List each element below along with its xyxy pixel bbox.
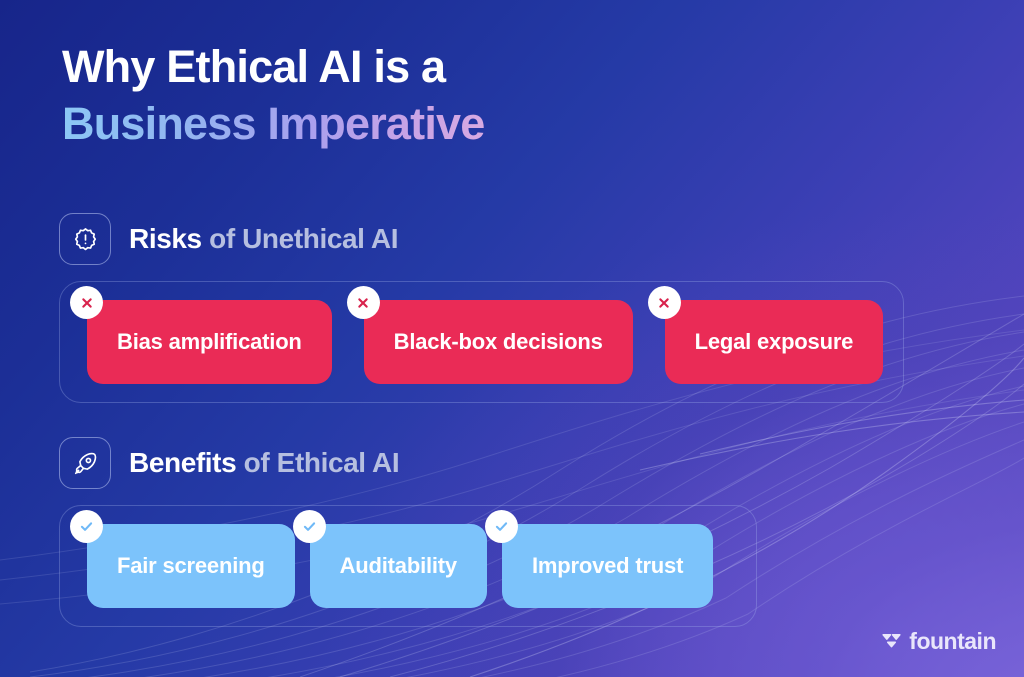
title-line-one: Why Ethical AI is a: [62, 38, 485, 95]
x-mark-badge: [70, 286, 103, 319]
section-heading-benefits-text: Benefits of Ethical AI: [129, 447, 399, 479]
risk-card-label-3[interactable]: Legal exposure: [665, 300, 884, 384]
rocket-icon: [72, 450, 99, 477]
section-heading-risks-text: Risks of Unethical AI: [129, 223, 398, 255]
section-heading-benefits: Benefits of Ethical AI: [59, 437, 399, 489]
check-mark-badge: [293, 510, 326, 543]
x-mark-icon: [656, 295, 672, 311]
heading-soft-risks: of Unethical AI: [209, 223, 398, 254]
benefit-card-label-3[interactable]: Improved trust: [502, 524, 713, 608]
x-mark-icon: [79, 295, 95, 311]
fountain-logo[interactable]: fountain: [881, 628, 996, 655]
page-title: Why Ethical AI is a Business Imperative: [62, 38, 485, 152]
benefit-card-label-2[interactable]: Auditability: [310, 524, 487, 608]
rocket-icon-frame: [59, 437, 111, 489]
heading-strong-benefits: Benefits: [129, 447, 236, 478]
seal-exclamation-icon: [72, 226, 99, 253]
risk-card-item[interactable]: Legal exposure: [665, 300, 884, 384]
benefit-card-item[interactable]: Fair screening: [87, 524, 295, 608]
risk-card-item[interactable]: Bias amplification: [87, 300, 332, 384]
x-mark-icon: [355, 295, 371, 311]
benefit-card-label-1[interactable]: Fair screening: [87, 524, 295, 608]
check-mark-badge: [70, 510, 103, 543]
benefit-card-item[interactable]: Improved trust: [502, 524, 713, 608]
section-heading-risks: Risks of Unethical AI: [59, 213, 398, 265]
x-mark-badge: [347, 286, 380, 319]
risk-card-label-1[interactable]: Bias amplification: [87, 300, 332, 384]
check-mark-badge: [485, 510, 518, 543]
risk-card-label-2[interactable]: Black-box decisions: [364, 300, 633, 384]
seal-exclamation-icon-frame: [59, 213, 111, 265]
benefit-card-item[interactable]: Auditability: [310, 524, 487, 608]
check-mark-icon: [493, 518, 510, 535]
infographic-canvas: Why Ethical AI is a Business Imperative …: [0, 0, 1024, 677]
heading-strong-risks: Risks: [129, 223, 202, 254]
x-mark-badge: [648, 286, 681, 319]
heading-soft-benefits: of Ethical AI: [244, 447, 400, 478]
fountain-logo-text: fountain: [909, 628, 996, 655]
check-mark-icon: [301, 518, 318, 535]
check-mark-icon: [78, 518, 95, 535]
risk-card-item[interactable]: Black-box decisions: [364, 300, 633, 384]
fountain-logo-mark-icon: [881, 633, 902, 650]
risks-card-band: Bias amplification Black-box decisions L…: [59, 281, 904, 403]
title-line-two: Business Imperative: [62, 95, 485, 152]
benefits-card-band: Fair screening Auditability Improved tru…: [59, 505, 757, 627]
